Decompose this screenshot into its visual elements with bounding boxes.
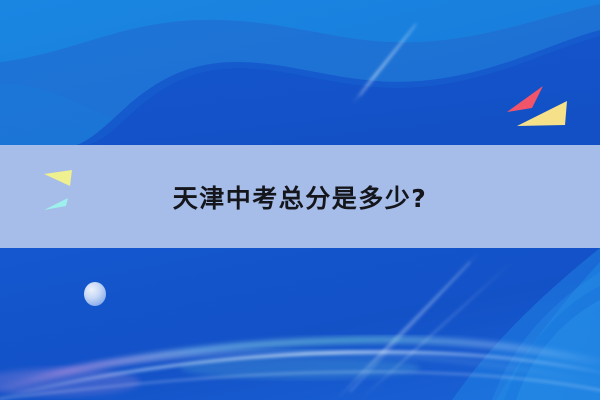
- page-title: 天津中考总分是多少?: [173, 179, 428, 215]
- banner-title-container: 天津中考总分是多少?: [0, 145, 600, 248]
- top-right-accent-triangles: [505, 85, 575, 130]
- banner-image: 天津中考总分是多少?: [0, 0, 600, 400]
- glow-circle-icon: [84, 282, 106, 306]
- red-triangle: [507, 86, 543, 112]
